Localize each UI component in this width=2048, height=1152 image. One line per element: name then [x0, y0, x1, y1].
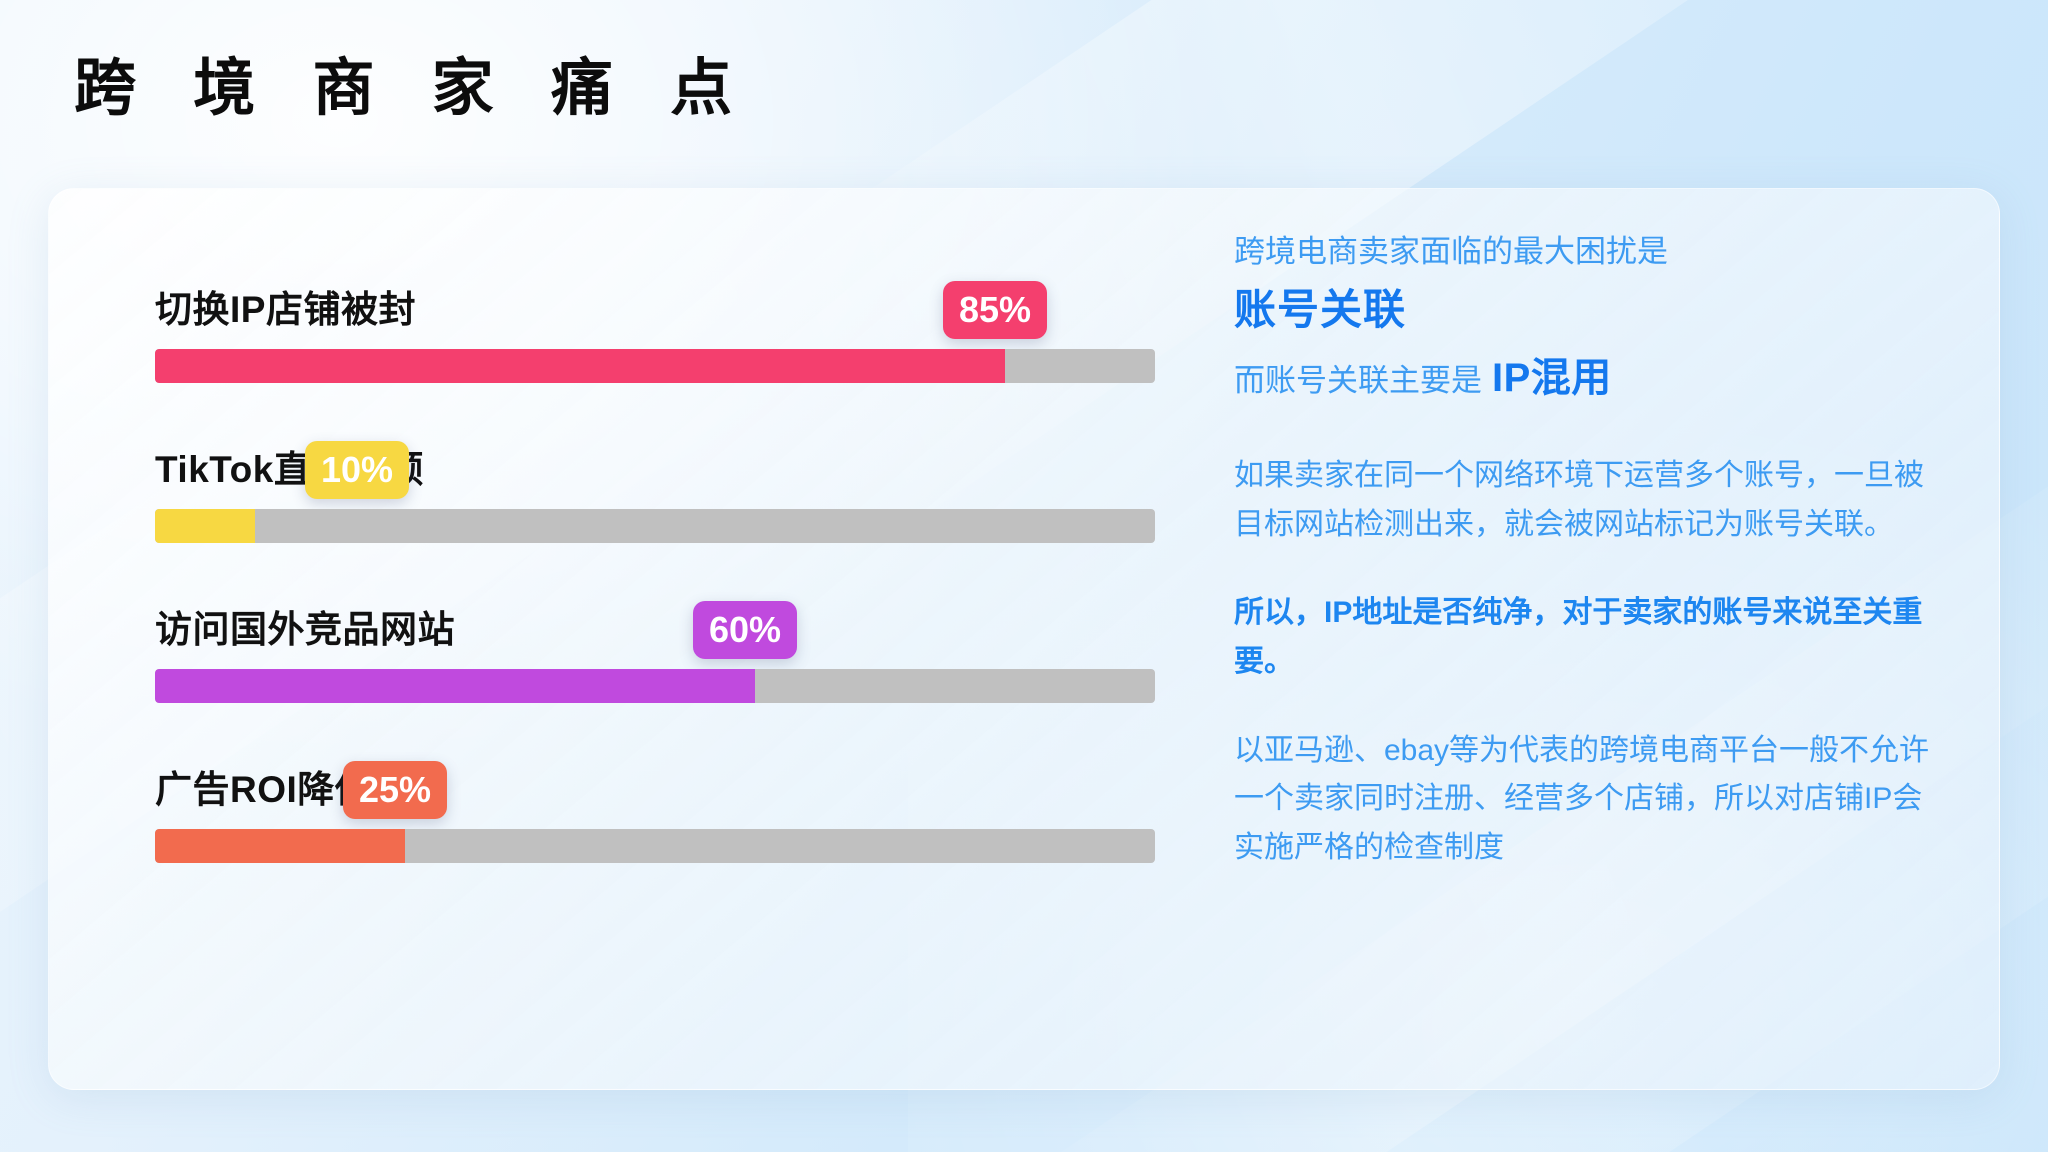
bar-fill: [155, 509, 255, 543]
bar-track: [155, 349, 1155, 383]
bar-label: 切换IP店铺被封: [155, 279, 416, 333]
bar-value-badge: 85%: [943, 281, 1047, 339]
bar-row: 切换IP店铺被封 85%: [109, 245, 1204, 405]
bar-fill: [155, 349, 1005, 383]
bar-value-badge: 10%: [305, 441, 409, 499]
slide-root: 跨 境 商 家 痛 点 切换IP店铺被封 85% TikTok直播卡顿 10%: [0, 0, 2048, 1152]
bar-label: 访问国外竞品网站: [155, 599, 455, 653]
bar-label: 广告ROI降低: [155, 759, 372, 813]
bar-header: 切换IP店铺被封 85%: [109, 245, 1204, 341]
bar-row: 广告ROI降低 25%: [109, 725, 1204, 885]
paragraph-1: 如果卖家在同一个网络环境下运营多个账号，一旦被目标网站检测出来，就会被网站标记为…: [1234, 452, 1939, 549]
pain-point-chart: 切换IP店铺被封 85% TikTok直播卡顿 10% 访问国外竞品网站: [49, 189, 1204, 1089]
lead-line-2-prefix: 而账号关联主要是: [1234, 363, 1482, 398]
explanation-panel: 跨境电商卖家面临的最大困扰是 账号关联 而账号关联主要是IP混用 如果卖家在同一…: [1204, 189, 1999, 1089]
bar-header: 访问国外竞品网站 60%: [109, 565, 1204, 661]
bar-value-badge: 25%: [343, 761, 447, 819]
bar-row: 访问国外竞品网站 60%: [109, 565, 1204, 725]
page-title: 跨 境 商 家 痛 点: [74, 58, 752, 120]
bar-header: 广告ROI降低 25%: [109, 725, 1204, 821]
bar-row: TikTok直播卡顿 10%: [109, 405, 1204, 565]
content-card: 切换IP店铺被封 85% TikTok直播卡顿 10% 访问国外竞品网站: [48, 188, 2000, 1090]
bar-track: [155, 829, 1155, 863]
paragraph-2: 所以，IP地址是否纯净，对于卖家的账号来说至关重要。: [1234, 589, 1939, 686]
lead-highlight: 账号关联: [1234, 282, 1939, 339]
bar-track: [155, 509, 1155, 543]
lead-line-2-highlight: IP混用: [1492, 356, 1612, 400]
lead-line-1: 跨境电商卖家面临的最大困扰是: [1234, 229, 1939, 276]
bar-fill: [155, 829, 405, 863]
bar-header: TikTok直播卡顿 10%: [109, 405, 1204, 501]
paragraph-3: 以亚马逊、ebay等为代表的跨境电商平台一般不允许一个卖家同时注册、经营多个店铺…: [1234, 727, 1939, 873]
lead-line-2: 而账号关联主要是IP混用: [1234, 348, 1939, 408]
bar-value-badge: 60%: [693, 601, 797, 659]
bar-track: [155, 669, 1155, 703]
bar-fill: [155, 669, 755, 703]
